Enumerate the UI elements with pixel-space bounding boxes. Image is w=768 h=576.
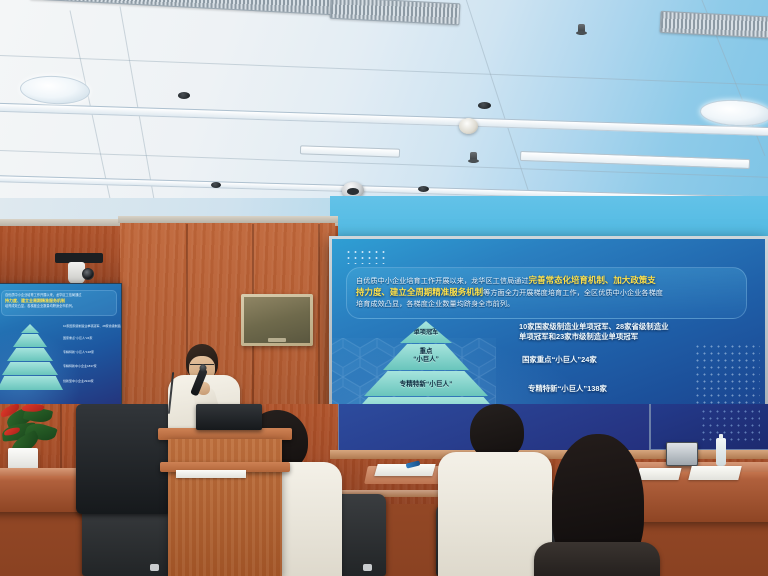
sprinkler-head bbox=[578, 24, 585, 35]
mini-tier-4 bbox=[0, 376, 63, 390]
mini-tier-1 bbox=[13, 334, 47, 347]
air-vent-grille bbox=[330, 0, 461, 25]
intro-line-1-plain: 自优质中小企业培育工作开展以来，龙华区工信局通过 bbox=[356, 277, 529, 285]
annotation-tier-0-line-1: 10家国家级制造业单项冠军、28家省级制造业 bbox=[519, 322, 668, 332]
pyramid-tier-2: 专精特新“小巨人” bbox=[364, 371, 488, 396]
annotation-tier-0-line-2: 单项冠军和23家市级制造业单项冠军 bbox=[519, 332, 638, 342]
desk-monitor-left[interactable] bbox=[76, 404, 172, 514]
intro-line-2-plain: 等方面全力开展梯度培育工作，全区优质中小企业各梯度 bbox=[483, 289, 663, 297]
air-vent-grille bbox=[30, 0, 361, 17]
intro-line-1: 自优质中小企业培育工作开展以来，龙华区工信局通过完善常态化培育机制、加大政策支 bbox=[356, 275, 737, 287]
lectern-paper bbox=[176, 470, 246, 478]
air-vent-grille bbox=[660, 11, 768, 40]
air-vent-grille bbox=[520, 151, 750, 169]
intro-line-2-highlight: 持力度、建立全周期精准服务机制 bbox=[356, 287, 483, 297]
desk-document bbox=[374, 464, 435, 476]
annotation-tier-2: 专精特新“小巨人”138家 bbox=[528, 384, 607, 394]
intro-line-2: 持力度、建立全周期精准服务机制等方面全力开展梯度培育工作，全区优质中小企业各梯度 bbox=[356, 287, 737, 299]
mini-tier-0 bbox=[21, 324, 39, 333]
framed-artwork bbox=[241, 294, 313, 346]
desk-tablet[interactable] bbox=[666, 442, 698, 466]
rear-panel-ledge bbox=[330, 450, 768, 459]
annotation-tier-1: 国家重点“小巨人”24家 bbox=[522, 355, 597, 365]
intro-line-3: 培育成效凸显，各梯度企业数量均跻身全市前列。 bbox=[356, 299, 737, 310]
slide-intro-paragraph: 自优质中小企业培育工作开展以来，龙华区工信局通过完善常态化培育机制、加大政策支 … bbox=[346, 267, 747, 319]
mini-annotation-1: 国家重点“小巨人”24家 bbox=[63, 336, 92, 340]
room-lower-section bbox=[0, 404, 768, 576]
pyramid-tier-1-label-a: 重点 bbox=[420, 348, 433, 357]
recessed-downlight bbox=[19, 74, 90, 106]
mini-annotation-0: 10家国家级制造业单项冠军、28家省级制造业 bbox=[63, 324, 122, 328]
pyramid-tier-0: 单项冠军 bbox=[400, 321, 452, 343]
pyramid-tier-2-label: 专精特新“小巨人” bbox=[400, 378, 453, 388]
water-bottle bbox=[716, 438, 726, 466]
mini-tier-3 bbox=[2, 362, 58, 375]
intro-line-1-highlight: 完善常态化培育机制、加大政策支 bbox=[529, 275, 656, 285]
ceiling bbox=[0, 0, 768, 205]
air-vent-grille bbox=[300, 145, 400, 157]
sprinkler-head bbox=[470, 152, 477, 163]
ceiling-speaker bbox=[178, 92, 190, 99]
recessed-downlight bbox=[699, 98, 768, 128]
mini-tier-2 bbox=[7, 348, 53, 361]
mini-annotation-4: 创新型中小企业2940家 bbox=[63, 379, 94, 383]
pyramid-tier-1: 重点 “小巨人” bbox=[383, 344, 469, 370]
secondary-display[interactable]: 自优质中小企业培育工作开展以来，龙华区工信局通过 持力度、建立全周期精准服务机制… bbox=[0, 283, 122, 407]
ceiling-speaker bbox=[211, 182, 221, 188]
desk-document bbox=[688, 466, 741, 480]
lectern-laptop[interactable] bbox=[196, 404, 262, 430]
pyramid-tier-0-label: 单项冠军 bbox=[414, 327, 439, 336]
secondary-intro-line-3: 培育成效凸显，各梯度企业数量均跻身全市前列。 bbox=[5, 304, 113, 309]
lectern-body bbox=[168, 439, 282, 576]
rear-panel-dot-grid bbox=[700, 408, 760, 444]
desk-document bbox=[637, 468, 682, 480]
ceiling-speaker bbox=[418, 186, 429, 192]
ceiling-speaker bbox=[478, 102, 491, 109]
pyramid-tier-1-label-b: “小巨人” bbox=[413, 356, 439, 365]
mini-annotation-2: 专精特新“小巨人”138家 bbox=[63, 350, 94, 354]
mini-annotation-3: 专精特新中小企业1837家 bbox=[63, 364, 97, 368]
smoke-detector bbox=[459, 118, 478, 134]
wall-trim bbox=[118, 216, 338, 223]
dot-grid-decoration-top-left bbox=[345, 249, 385, 264]
conference-room-photo: 自优质中小企业培育工作开展以来，龙华区工信局通过 持力度、建立全周期精准服务机制… bbox=[0, 0, 768, 576]
